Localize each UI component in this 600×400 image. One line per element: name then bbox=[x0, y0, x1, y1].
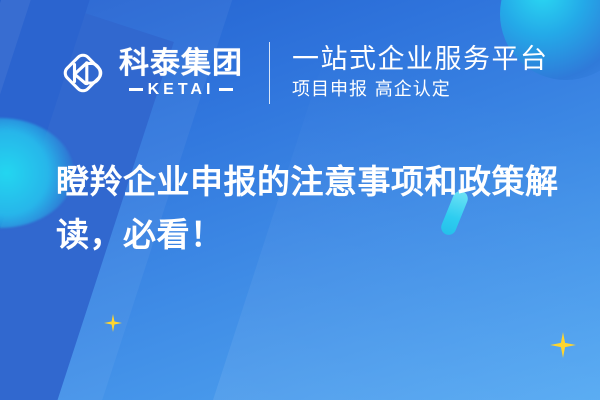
tagline-main-text: 一站式企业服务平台 bbox=[292, 45, 549, 75]
tagline-sub-text: 项目申报 高企认定 bbox=[292, 78, 549, 101]
sparkle-star-icon bbox=[550, 332, 576, 358]
wordmark-dash-right bbox=[219, 88, 233, 91]
brand-name-en-row: KETAI bbox=[129, 82, 234, 98]
page-title: 瞪羚企业申报的注意事项和政策解读，必看！ bbox=[56, 155, 566, 262]
ketai-diamond-kd-logo-icon bbox=[56, 46, 110, 100]
brand-logo[interactable]: 科泰集团 KETAI bbox=[56, 46, 243, 100]
brand-tagline: 一站式企业服务平台 项目申报 高企认定 bbox=[292, 45, 549, 102]
banner-header: 科泰集团 KETAI 一站式企业服务平台 项目申报 高企认定 bbox=[0, 38, 600, 108]
promo-banner: 科泰集团 KETAI 一站式企业服务平台 项目申报 高企认定 瞪羚企业申报的注意… bbox=[0, 0, 600, 400]
wordmark-dash-left bbox=[129, 88, 143, 91]
header-divider bbox=[269, 42, 270, 104]
brand-name-en: KETAI bbox=[148, 82, 215, 98]
sparkle-star-icon bbox=[104, 314, 122, 332]
brand-name-cn: 科泰集团 bbox=[119, 48, 243, 80]
brand-wordmark: 科泰集团 KETAI bbox=[119, 48, 243, 98]
